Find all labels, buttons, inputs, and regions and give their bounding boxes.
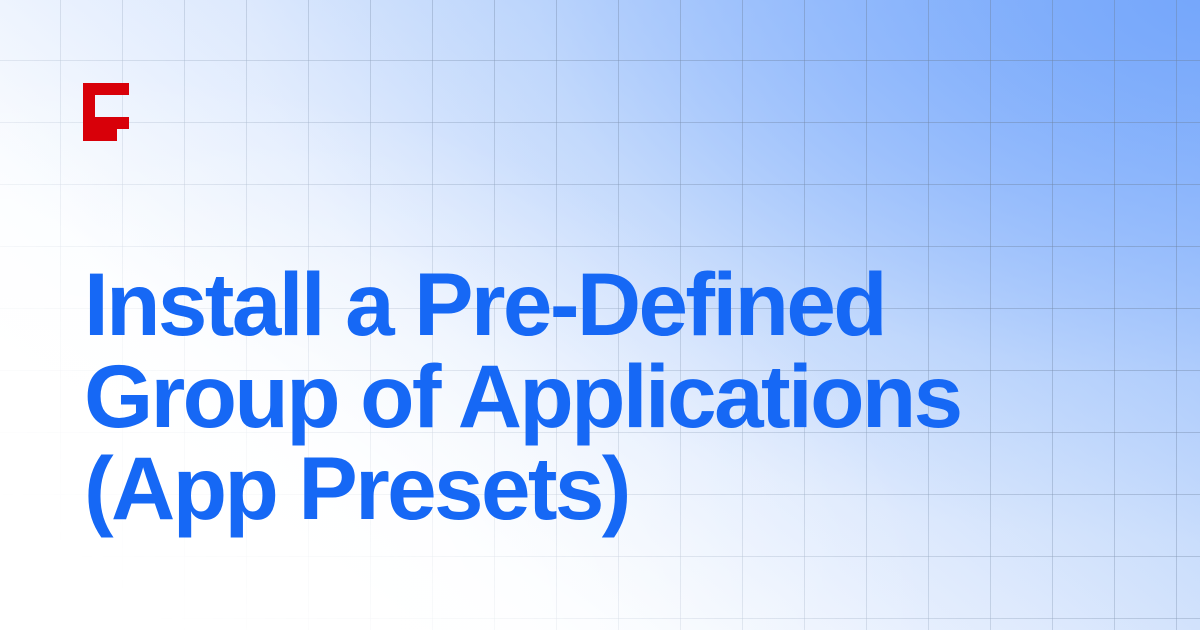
page-title-line-3: (App Presets) [84,442,1144,534]
page-title: Install a Pre-Defined Group of Applicati… [84,258,1144,534]
page-title-line-1: Install a Pre-Defined [84,258,1144,350]
brand-square-logo-icon [83,83,141,141]
social-share-banner: Install a Pre-Defined Group of Applicati… [0,0,1200,630]
brand-logo [83,83,141,141]
page-title-line-2: Group of Applications [84,350,1144,442]
